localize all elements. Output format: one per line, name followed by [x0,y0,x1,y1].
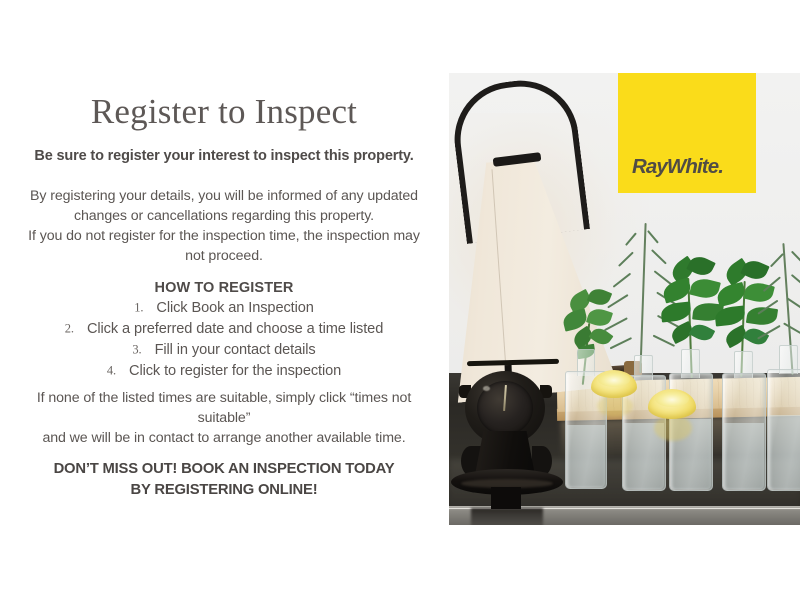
intro-paragraph: By registering your details, you will be… [0,186,448,267]
closing-line: If none of the listed times are suitable… [0,388,448,408]
intro-line: not proceed. [0,246,448,266]
intro-line: By registering your details, you will be… [0,186,448,206]
how-to-register-block: HOW TO REGISTER 1.Click Book an Inspecti… [0,279,448,382]
list-item: 2.Click a preferred date and choose a ti… [0,319,448,340]
bottle-water [769,415,800,489]
intro-line: changes or cancellations regarding this … [0,206,448,226]
bottle-water [567,425,605,487]
step-text: Click to register for the inspection [129,363,341,379]
list-item: 3.Fill in your contact details [0,340,448,361]
call-to-action: DON’T MISS OUT! BOOK AN INSPECTION TODAY… [0,459,448,500]
step-number: 3. [132,342,141,356]
bottle-water [724,423,764,489]
closing-paragraph: If none of the listed times are suitable… [0,388,448,448]
lemon-cut-face [655,391,689,407]
bottle-body [722,373,766,491]
lemon-cut-face [598,372,630,387]
ray-white-wordmark: RayWhite. [632,155,723,179]
scale-stem [491,487,521,509]
ray-white-logo: RayWhite. [618,73,756,193]
scale-dial-highlight [483,386,490,391]
step-number: 2. [65,321,74,335]
step-text: Click a preferred date and choose a time… [87,321,383,337]
lamp-base-reflection [471,508,543,525]
bottle-body [767,369,800,491]
step-number: 1. [134,300,143,314]
flyer-canvas: Register to Inspect Be sure to register … [0,0,800,600]
step-text: Fill in your contact details [155,342,316,358]
closing-line: suitable” [0,408,448,428]
list-item: 1.Click Book an Inspection [0,298,448,319]
how-to-register-heading: HOW TO REGISTER [0,279,448,298]
lemon-reflection [597,395,633,417]
step-number: 4. [107,363,116,377]
flyer-text-panel: Register to Inspect Be sure to register … [0,0,448,600]
page-title: Register to Inspect [0,93,448,132]
step-text: Click Book an Inspection [156,300,313,316]
cta-line: DON’T MISS OUT! BOOK AN INSPECTION TODAY [0,459,448,480]
list-item: 4.Click to register for the inspection [0,361,448,382]
intro-line: If you do not register for the inspectio… [0,226,448,246]
cta-line: BY REGISTERING ONLINE! [0,480,448,501]
closing-line: and we will be in contact to arrange ano… [0,428,448,448]
steps-list: 1.Click Book an Inspection 2.Click a pre… [0,298,448,382]
lede-text: Be sure to register your interest to ins… [0,147,448,165]
